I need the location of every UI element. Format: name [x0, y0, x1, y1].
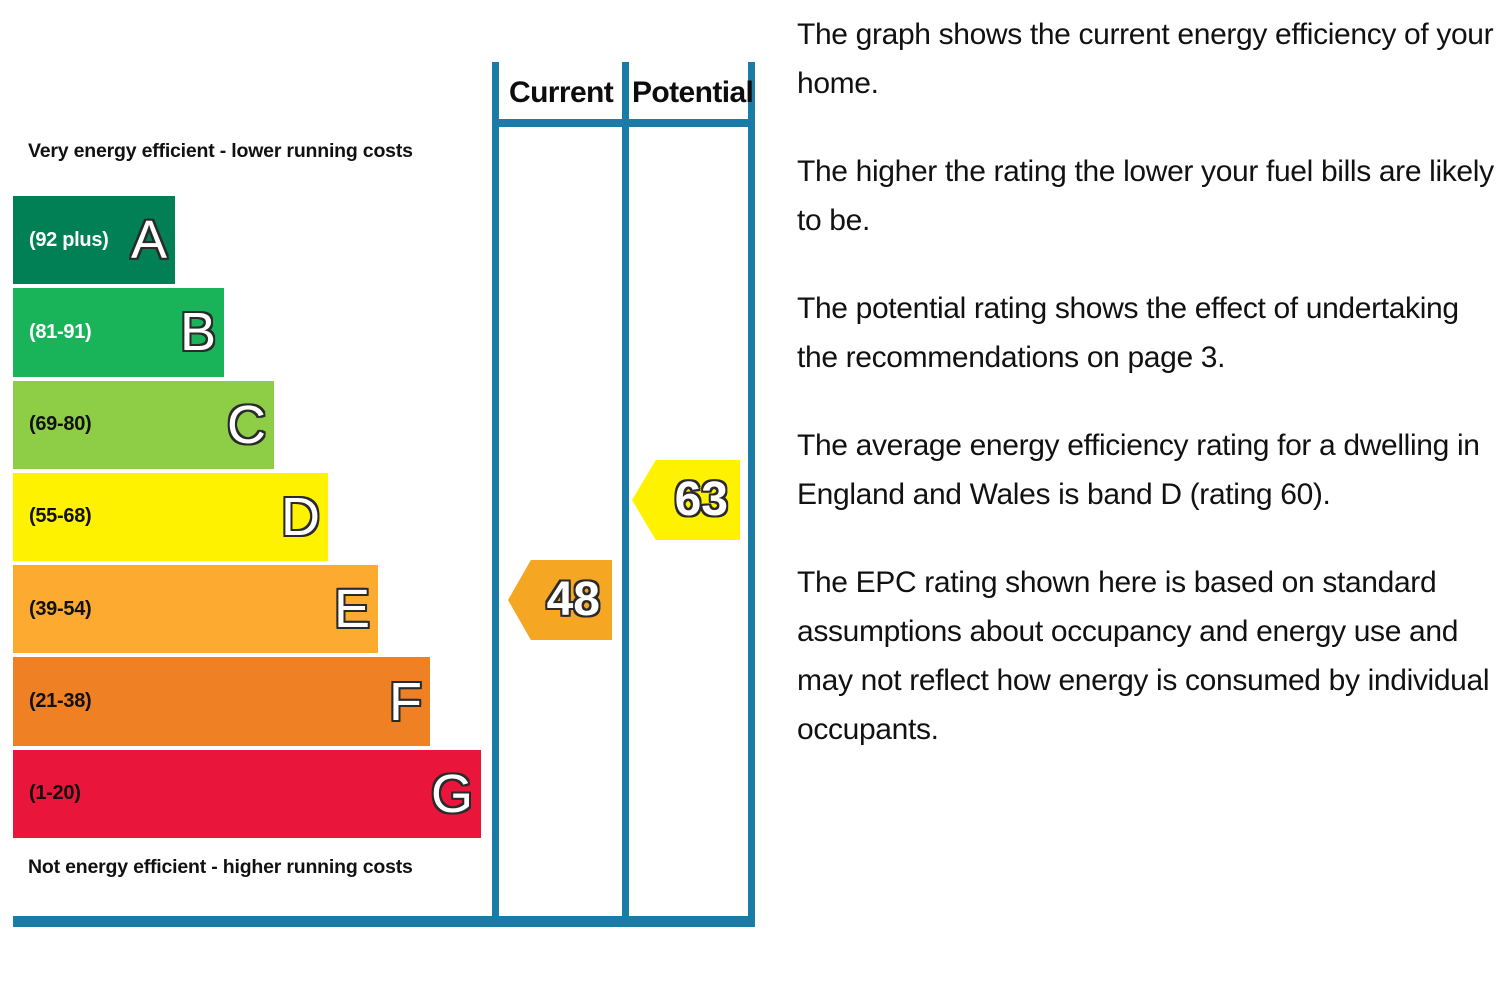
band-letter-d: D [281, 490, 320, 544]
rating-band-d: (55-68)D [13, 473, 328, 561]
rating-band-f: (21-38)F [13, 657, 430, 745]
band-range-g: (1-20) [29, 782, 81, 805]
band-range-c: (69-80) [29, 413, 91, 436]
band-letter-f: F [389, 675, 422, 729]
potential-rating-value: 63 [675, 476, 728, 524]
column-header-rule [492, 119, 755, 127]
band-letter-g: G [431, 767, 473, 821]
column-divider-right [748, 62, 755, 924]
rating-band-a: (92 plus)A [13, 196, 175, 284]
rating-band-list: (92 plus)A(81-91)B(69-80)C(55-68)D(39-54… [13, 196, 493, 838]
note-paragraph-2: The higher the rating the lower your fue… [797, 147, 1497, 245]
current-rating-arrow: 48 [508, 560, 612, 640]
note-paragraph-5: The EPC rating shown here is based on st… [797, 558, 1497, 754]
rating-band-g: (1-20)G [13, 750, 481, 838]
column-divider-left [492, 62, 499, 924]
rating-columns: Current Potential 48 63 [492, 62, 754, 924]
rating-band-e: (39-54)E [13, 565, 378, 653]
column-divider-mid [622, 62, 629, 924]
band-letter-a: A [131, 213, 167, 267]
rating-band-c: (69-80)C [13, 381, 274, 469]
graph-caption-top: Very energy efficient - lower running co… [28, 140, 413, 163]
band-range-a: (92 plus) [29, 229, 109, 252]
band-letter-b: B [180, 305, 216, 359]
column-header-current: Current [509, 76, 613, 110]
graph-caption-bottom: Not energy efficient - higher running co… [28, 856, 413, 879]
energy-efficiency-graph: Very energy efficient - lower running co… [0, 0, 780, 1000]
explanatory-notes: The graph shows the current energy effic… [797, 10, 1497, 990]
column-header-potential: Potential [632, 76, 753, 110]
potential-rating-arrow: 63 [632, 460, 740, 540]
epc-rating-widget: Very energy efficient - lower running co… [0, 0, 1500, 1000]
band-letter-c: C [227, 398, 266, 452]
note-paragraph-4: The average energy efficiency rating for… [797, 421, 1497, 519]
note-paragraph-3: The potential rating shows the effect of… [797, 284, 1497, 382]
band-range-d: (55-68) [29, 505, 91, 528]
graph-bottom-rule [13, 916, 755, 927]
band-range-b: (81-91) [29, 321, 91, 344]
note-paragraph-1: The graph shows the current energy effic… [797, 10, 1497, 108]
band-range-f: (21-38) [29, 690, 91, 713]
rating-band-b: (81-91)B [13, 288, 224, 376]
band-range-e: (39-54) [29, 598, 91, 621]
current-rating-value: 48 [547, 576, 600, 624]
band-letter-e: E [334, 582, 370, 636]
